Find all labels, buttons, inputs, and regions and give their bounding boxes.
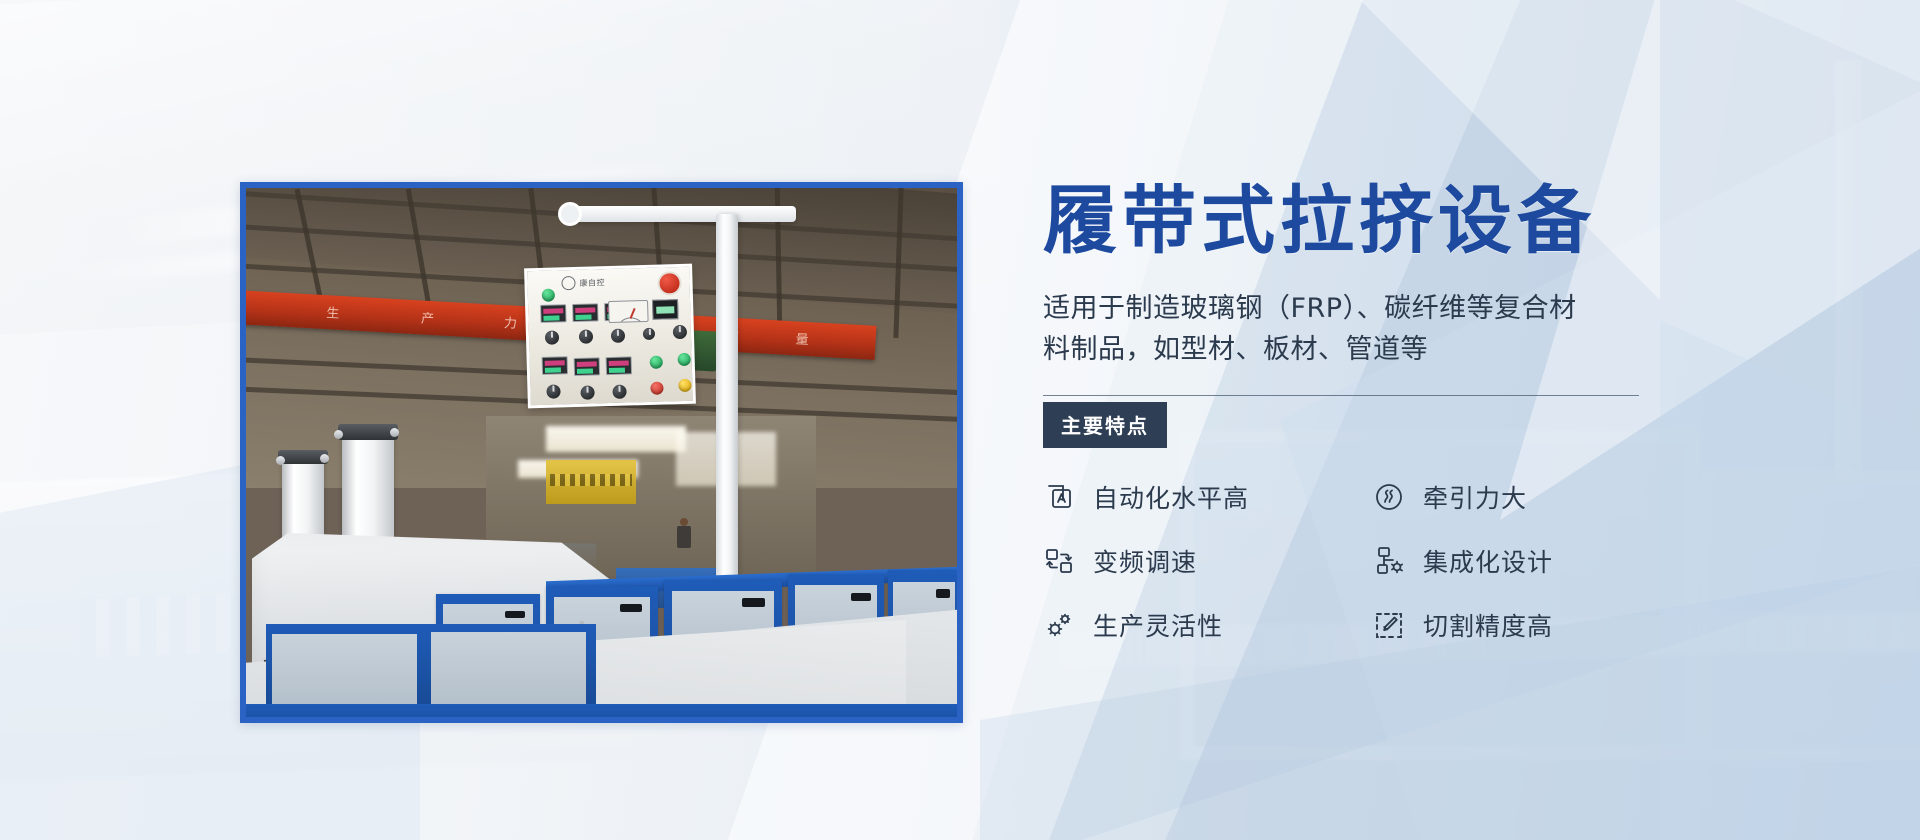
cylinder-bolt (334, 430, 343, 439)
control-knob[interactable] (546, 384, 560, 398)
banner-content: 履带式拉挤设备 适用于制造玻璃钢（FRP）、碳纤维等复合材 料制品，如型材、板材… (1043, 182, 1803, 643)
status-badge: 主要特点 (1043, 402, 1167, 448)
cylinder-bolt (390, 428, 399, 437)
panel-brand-label: 康自控 (579, 277, 605, 289)
control-knob[interactable] (580, 385, 594, 399)
feature-label: 集成化设计 (1423, 543, 1553, 579)
control-knob[interactable] (612, 385, 626, 399)
feature-label: 生产灵活性 (1093, 607, 1223, 643)
control-knob[interactable] (545, 330, 559, 344)
product-banner: 生 产 力 产 品 质 量 (0, 0, 1920, 840)
frequency-nodes-icon (1043, 545, 1075, 577)
emergency-stop-button[interactable] (657, 271, 682, 296)
control-knob[interactable] (579, 329, 593, 343)
spiral-circle-icon (1373, 481, 1405, 513)
control-knob[interactable] (673, 325, 687, 339)
background-yellow-machine (546, 460, 636, 504)
feature-list: 自动化水平高 牵引力大 (1043, 479, 1803, 643)
feature-label: 切割精度高 (1423, 607, 1553, 643)
cylinder-bolt (320, 454, 329, 463)
feature-label: 变频调速 (1093, 543, 1197, 579)
panel-lamp-green (678, 353, 691, 366)
divider-line (1043, 395, 1639, 396)
product-photo: 生 产 力 产 品 质 量 (246, 188, 957, 717)
analog-gauge (608, 300, 649, 323)
panel-lamp-green (650, 356, 663, 369)
control-panel[interactable]: 康自控 (524, 264, 696, 409)
gantry-crossbar (566, 206, 796, 222)
feature-item-automation[interactable]: 自动化水平高 (1043, 479, 1373, 515)
description-line-2: 料制品，如型材、板材、管道等 (1043, 334, 1428, 365)
control-knob[interactable] (611, 329, 625, 343)
factory-window (546, 426, 686, 452)
cylinder-cap (338, 424, 398, 440)
cylinder-bolt (276, 456, 285, 465)
gantry-joint (558, 202, 582, 226)
automation-frame-a-icon (1043, 481, 1075, 513)
digital-readout (652, 299, 679, 320)
panel-lamp-red (650, 382, 663, 395)
product-description: 适用于制造玻璃钢（FRP）、碳纤维等复合材 料制品，如型材、板材、管道等 (1043, 288, 1643, 370)
double-gear-icon (1043, 609, 1075, 641)
factory-worker (676, 518, 692, 558)
feature-item-flexibility[interactable]: 生产灵活性 (1043, 607, 1373, 643)
feature-label: 自动化水平高 (1093, 479, 1249, 515)
feature-item-cut-accuracy[interactable]: 切割精度高 (1373, 607, 1703, 643)
product-photo-frame[interactable]: 生 产 力 产 品 质 量 (240, 182, 963, 723)
integration-gear-node-icon (1373, 545, 1405, 577)
section-divider-row: 主要特点 (1043, 395, 1803, 431)
dashed-pen-icon (1373, 609, 1405, 641)
panel-lamp-yellow (678, 379, 691, 392)
control-knob[interactable] (643, 328, 655, 340)
feature-item-vfd[interactable]: 变频调速 (1043, 543, 1373, 579)
feature-label: 牵引力大 (1423, 479, 1527, 515)
feature-item-integration[interactable]: 集成化设计 (1373, 543, 1703, 579)
page-title: 履带式拉挤设备 (1043, 182, 1803, 260)
panel-indicator-lamp (542, 289, 555, 302)
feature-item-traction[interactable]: 牵引力大 (1373, 479, 1703, 515)
description-line-1: 适用于制造玻璃钢（FRP）、碳纤维等复合材 (1043, 293, 1577, 324)
panel-logo-mark (561, 276, 575, 290)
base-frame-strip (246, 704, 957, 717)
